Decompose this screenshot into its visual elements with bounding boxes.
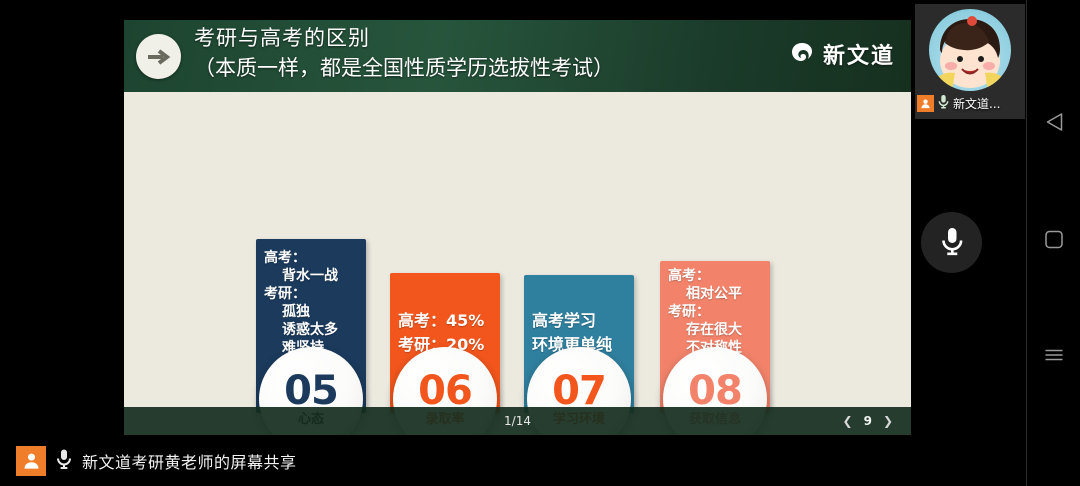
android-navigation-bar xyxy=(1026,0,1080,486)
thumbnail-label: 新文道... xyxy=(915,94,1000,113)
card-line: 考研： xyxy=(668,303,762,321)
slide-header: 考研与高考的区别 （本质一样，都是全国性质学历选拔性考试） 新文道 xyxy=(124,20,911,92)
microphone-icon xyxy=(937,94,950,113)
card-column[interactable]: 高考学习 环境更单纯 07 学习环境 xyxy=(524,275,634,413)
triangle-back-icon[interactable] xyxy=(1044,112,1063,132)
menu-recent-icon[interactable] xyxy=(1043,348,1064,362)
card-panel: 高考： 相对公平 考研： 存在很大 不对称性 08 获取信息 xyxy=(660,261,770,413)
chevron-right-icon[interactable]: ❯ xyxy=(883,414,893,428)
screen-root: 考研与高考的区别 （本质一样，都是全国性质学历选拔性考试） 新文道 高考： 背水… xyxy=(0,0,1080,486)
bottom-status-bar: 新文道考研黄老师的屏幕共享 xyxy=(0,435,1026,486)
card-line: 高考： xyxy=(264,249,358,267)
card-line: 高考：45% xyxy=(398,309,492,333)
card-line: 背水一战 xyxy=(264,267,358,285)
card-number: 06 xyxy=(418,371,472,411)
swirl-logo-icon xyxy=(789,41,815,67)
avatar xyxy=(929,9,1011,91)
card-line: 高考： xyxy=(668,267,762,285)
microphone-icon xyxy=(939,225,965,261)
microphone-button[interactable] xyxy=(921,212,982,273)
shared-slide[interactable]: 考研与高考的区别 （本质一样，都是全国性质学历选拔性考试） 新文道 高考： 背水… xyxy=(124,20,911,435)
card-column[interactable]: 高考： 背水一战 考研： 孤独 诱惑太多 难坚持 05 心态 xyxy=(256,239,366,413)
screen-share-status-text: 新文道考研黄老师的屏幕共享 xyxy=(82,449,297,473)
card-panel: 高考： 背水一战 考研： 孤独 诱惑太多 难坚持 05 心态 xyxy=(256,239,366,413)
person-icon xyxy=(917,95,934,112)
card-number: 08 xyxy=(688,371,742,411)
slide-title-line1: 考研与高考的区别 xyxy=(194,23,614,53)
card-line: 孤独 xyxy=(264,303,358,321)
card-line: 相对公平 xyxy=(668,285,762,303)
brand-name: 新文道 xyxy=(823,38,895,70)
card-panel: 高考：45% 考研：20% 06 录取率 xyxy=(390,273,500,413)
card-line: 高考学习 xyxy=(532,309,626,333)
square-home-icon[interactable] xyxy=(1044,230,1063,249)
person-icon xyxy=(16,446,46,476)
card-line: 考研： xyxy=(264,285,358,303)
card-number: 05 xyxy=(284,371,338,411)
chevron-left-icon[interactable]: ❮ xyxy=(843,414,853,428)
card-panel: 高考学习 环境更单纯 07 学习环境 xyxy=(524,275,634,413)
card-number: 07 xyxy=(552,371,606,411)
pagination-page-number[interactable]: 9 xyxy=(864,414,872,428)
pagination-controls[interactable]: ❮ 9 ❯ xyxy=(843,414,893,428)
card-line: 诱惑太多 xyxy=(264,321,358,339)
page-indicator: 1/14 xyxy=(504,414,531,428)
slide-title-line2: （本质一样，都是全国性质学历选拔性考试） xyxy=(194,53,614,83)
card-column[interactable]: 高考： 相对公平 考研： 存在很大 不对称性 08 获取信息 xyxy=(660,261,770,413)
slide-footer: 1/14 ❮ 9 ❯ xyxy=(124,407,911,435)
brand-logo: 新文道 xyxy=(789,38,895,70)
microphone-icon xyxy=(55,448,73,474)
thumbnail-participant-name: 新文道... xyxy=(953,95,1000,112)
card-line: 存在很大 xyxy=(668,321,762,339)
participant-thumbnail[interactable]: 新文道... xyxy=(915,4,1025,119)
cards-area: 高考： 背水一战 考研： 孤独 诱惑太多 难坚持 05 心态 高考：45% 考研… xyxy=(124,92,911,435)
arrow-right-icon xyxy=(136,34,181,79)
card-column[interactable]: 高考：45% 考研：20% 06 录取率 xyxy=(390,273,500,413)
slide-title: 考研与高考的区别 （本质一样，都是全国性质学历选拔性考试） xyxy=(194,23,614,83)
